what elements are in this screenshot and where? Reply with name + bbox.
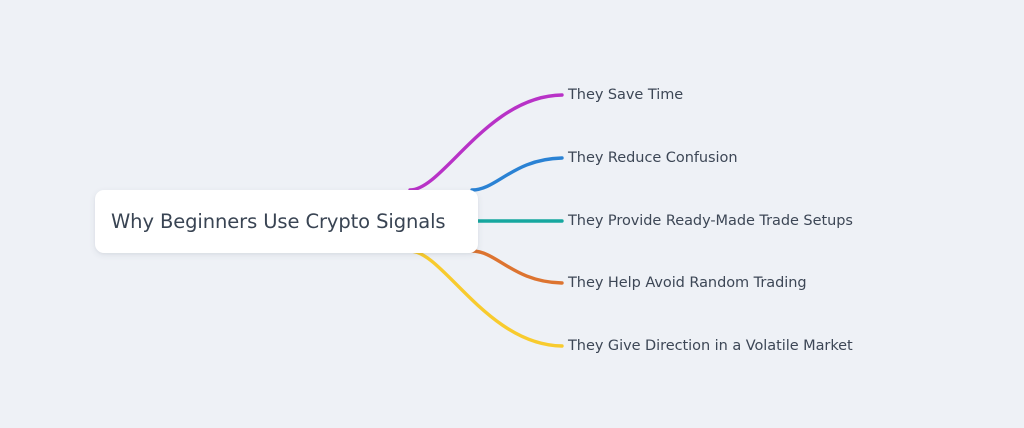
connector-direction-volatile-market <box>410 251 562 346</box>
branch-label-save-time[interactable]: They Save Time <box>568 87 683 103</box>
branch-label-reduce-confusion[interactable]: They Reduce Confusion <box>568 150 737 166</box>
branch-label-avoid-random-trading[interactable]: They Help Avoid Random Trading <box>568 275 807 291</box>
mind-map-canvas: Why Beginners Use Crypto Signals They Sa… <box>0 0 1024 428</box>
root-node-label: Why Beginners Use Crypto Signals <box>111 210 445 233</box>
connector-reduce-confusion <box>472 158 562 190</box>
branch-label-ready-made-setups[interactable]: They Provide Ready-Made Trade Setups <box>568 213 853 229</box>
root-node[interactable]: Why Beginners Use Crypto Signals <box>95 190 478 253</box>
connector-avoid-random-trading <box>472 251 562 283</box>
branch-label-direction-volatile-market[interactable]: They Give Direction in a Volatile Market <box>568 338 853 354</box>
connector-save-time <box>410 95 562 190</box>
